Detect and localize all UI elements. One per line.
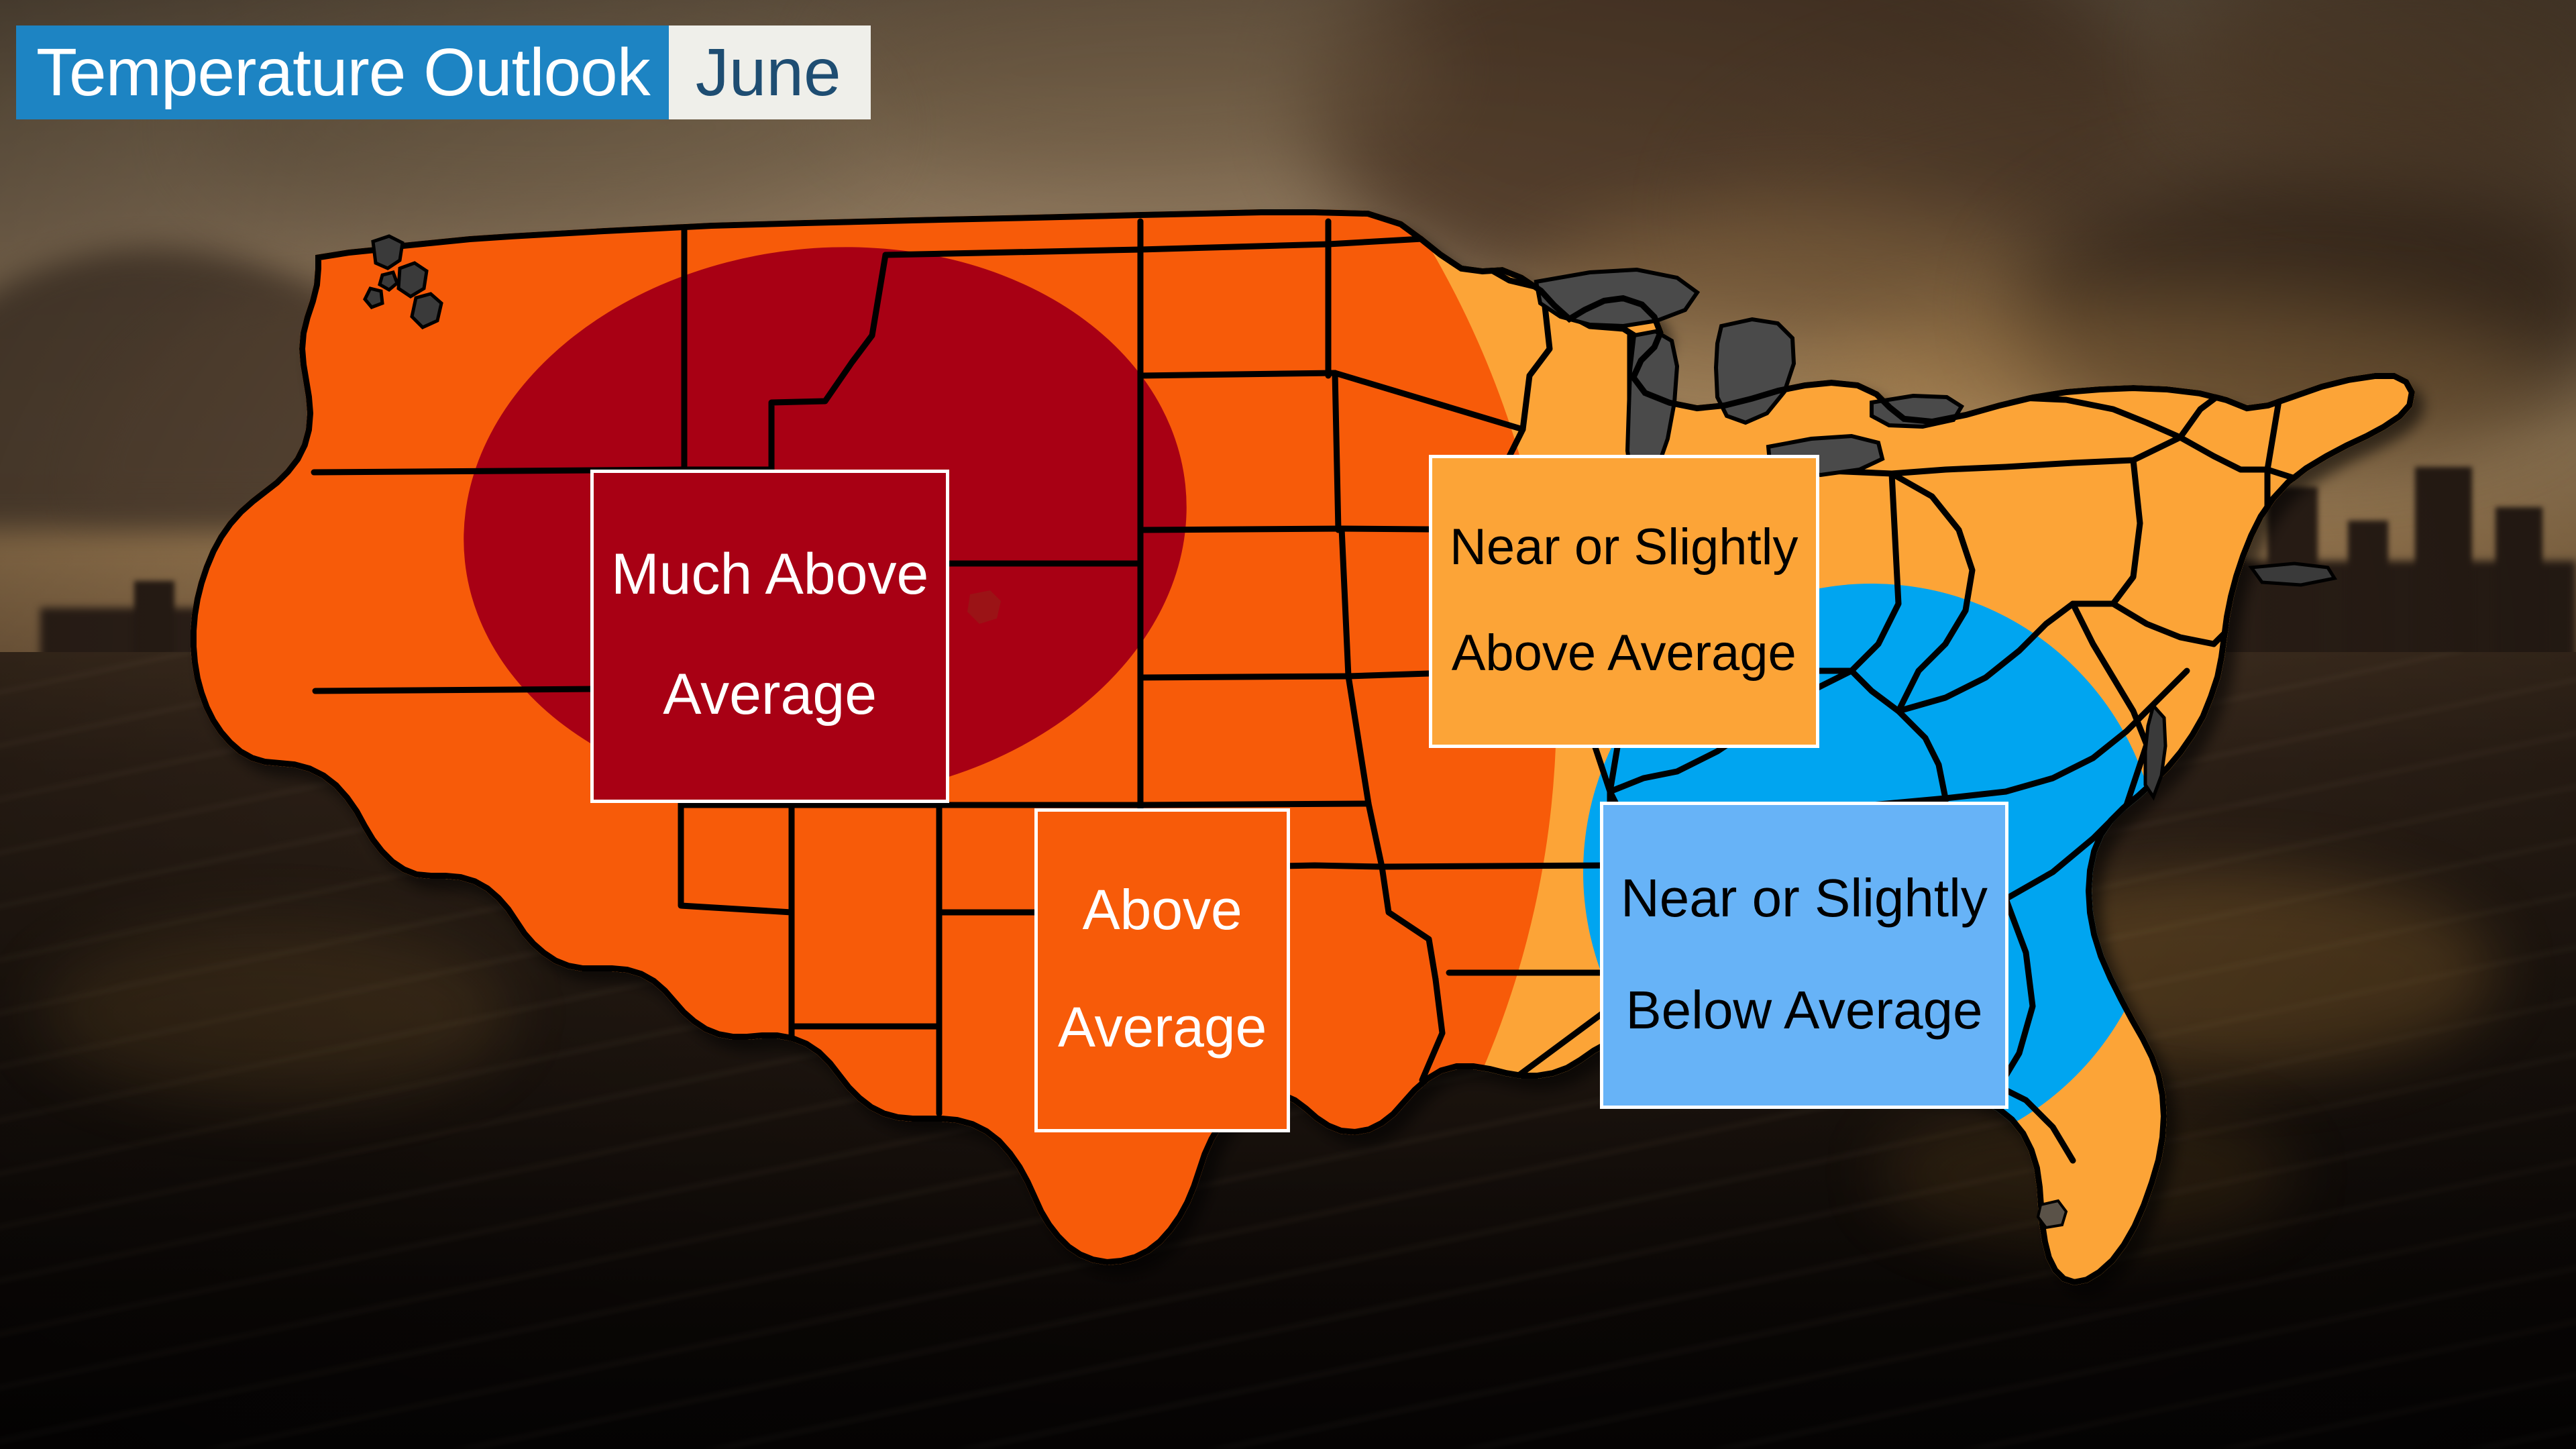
callout-line-2: Average [1058, 998, 1267, 1057]
chesapeake-bay [2145, 706, 2165, 797]
callout-line-1: Much Above [611, 545, 928, 604]
callout-near-below-average: Near or Slightly Below Average [1600, 802, 2008, 1109]
callout-line-1: Above [1058, 881, 1267, 939]
us-temperature-map [0, 0, 2576, 1449]
callout-line-2: Average [611, 665, 928, 724]
screenshot-root: Temperature Outlook June Much Above Aver… [0, 0, 2576, 1449]
callout-above-average: Above Average [1034, 808, 1290, 1132]
month-badge: June [669, 25, 871, 119]
callout-line-2: Above Average [1450, 627, 1799, 680]
callout-line-1: Near or Slightly [1450, 521, 1799, 574]
page-title: Temperature Outlook [16, 25, 669, 119]
title-bar: Temperature Outlook June [16, 25, 871, 119]
region-above-average-west-block [0, 0, 604, 1449]
callout-line-1: Near or Slightly [1621, 870, 1988, 926]
callout-much-above-average: Much Above Average [590, 470, 949, 803]
long-island [2251, 563, 2334, 585]
temperature-fill-layers [0, 0, 2576, 1449]
callout-line-2: Below Average [1621, 982, 1988, 1038]
callout-near-above-average: Near or Slightly Above Average [1429, 455, 1819, 748]
lake-okeechobee [2038, 1201, 2066, 1228]
